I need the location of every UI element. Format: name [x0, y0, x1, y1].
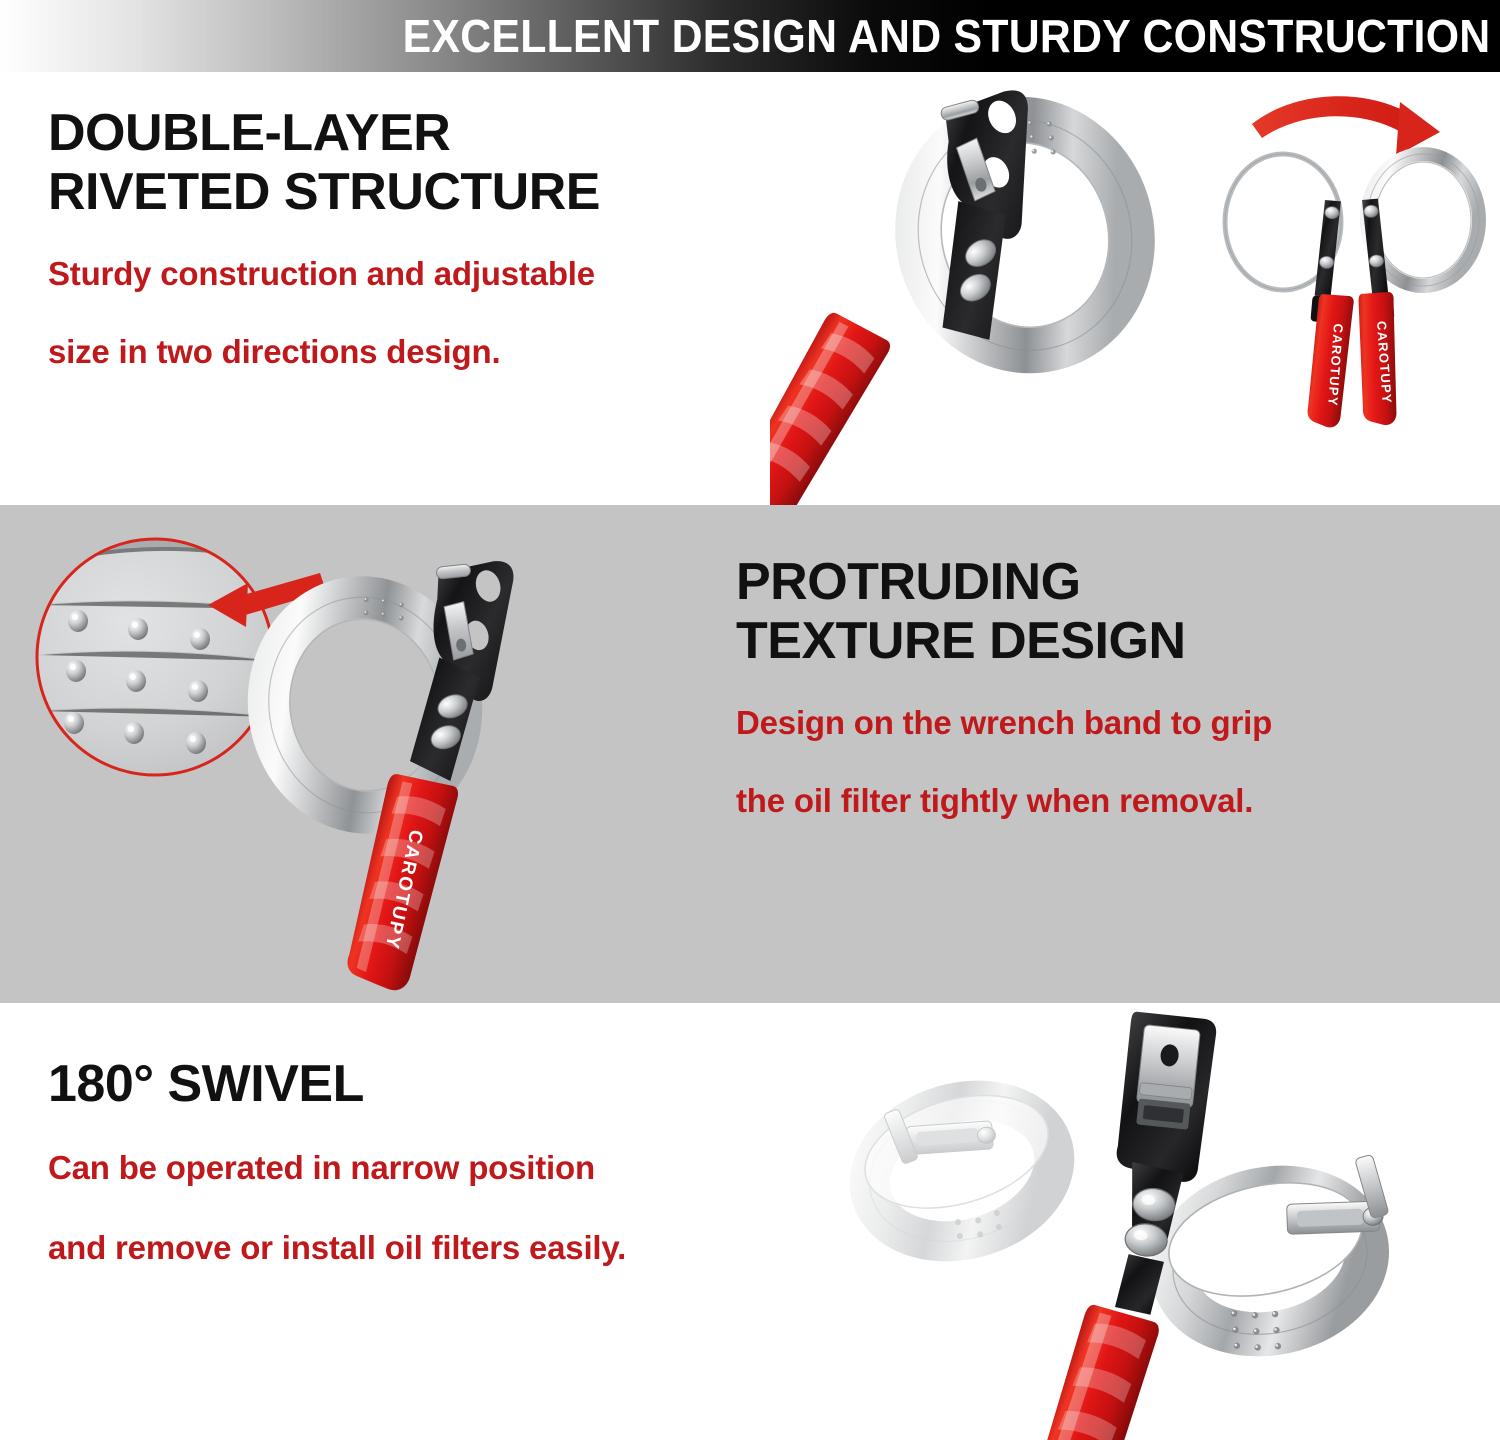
section1-body-line1: Sturdy construction and adjustable [48, 248, 600, 300]
section1-heading-line1: DOUBLE-LAYER [48, 104, 600, 163]
curved-red-arrow [1252, 96, 1440, 156]
section1-heading-line2: RIVETED STRUCTURE [48, 163, 600, 222]
ghost-band-left [850, 1070, 1071, 1263]
section3-body-line1: Can be operated in narrow position [48, 1142, 626, 1194]
header-banner: EXCELLENT DESIGN AND STURDY CONSTRUCTION [0, 0, 1500, 72]
section1-text-block: DOUBLE-LAYER RIVETED STRUCTURE Sturdy co… [48, 104, 600, 378]
section-180-degree-swivel: 180° SWIVEL Can be operated in narrow po… [0, 1003, 1500, 1440]
section2-text-block: PROTRUDING TEXTURE DESIGN Design on the … [736, 553, 1272, 827]
section1-product-image: CAROTUPY CAROTUPY [770, 72, 1500, 505]
section3-body-line2: and remove or install oil filters easily… [48, 1222, 626, 1274]
section3-product-image [830, 1003, 1500, 1440]
section2-heading-line2: TEXTURE DESIGN [736, 612, 1272, 671]
magnified-texture-callout [37, 527, 276, 775]
section2-heading-line1: PROTRUDING [736, 553, 1272, 612]
section3-text-block: 180° SWIVEL Can be operated in narrow po… [48, 1055, 626, 1274]
section2-product-image: CAROTUPY [20, 515, 700, 1003]
banner-title: EXCELLENT DESIGN AND STURDY CONSTRUCTION [403, 13, 1500, 59]
section-protruding-texture-design: PROTRUDING TEXTURE DESIGN Design on the … [0, 505, 1500, 1003]
section2-body-line1: Design on the wrench band to grip [736, 697, 1272, 749]
section1-body-line2: size in two directions design. [48, 326, 600, 378]
section-double-layer-riveted-structure: DOUBLE-LAYER RIVETED STRUCTURE Sturdy co… [0, 72, 1500, 505]
section2-body-line2: the oil filter tightly when removal. [736, 775, 1272, 827]
solid-band-right [1157, 1153, 1412, 1367]
section3-heading-line1: 180° SWIVEL [48, 1055, 626, 1114]
